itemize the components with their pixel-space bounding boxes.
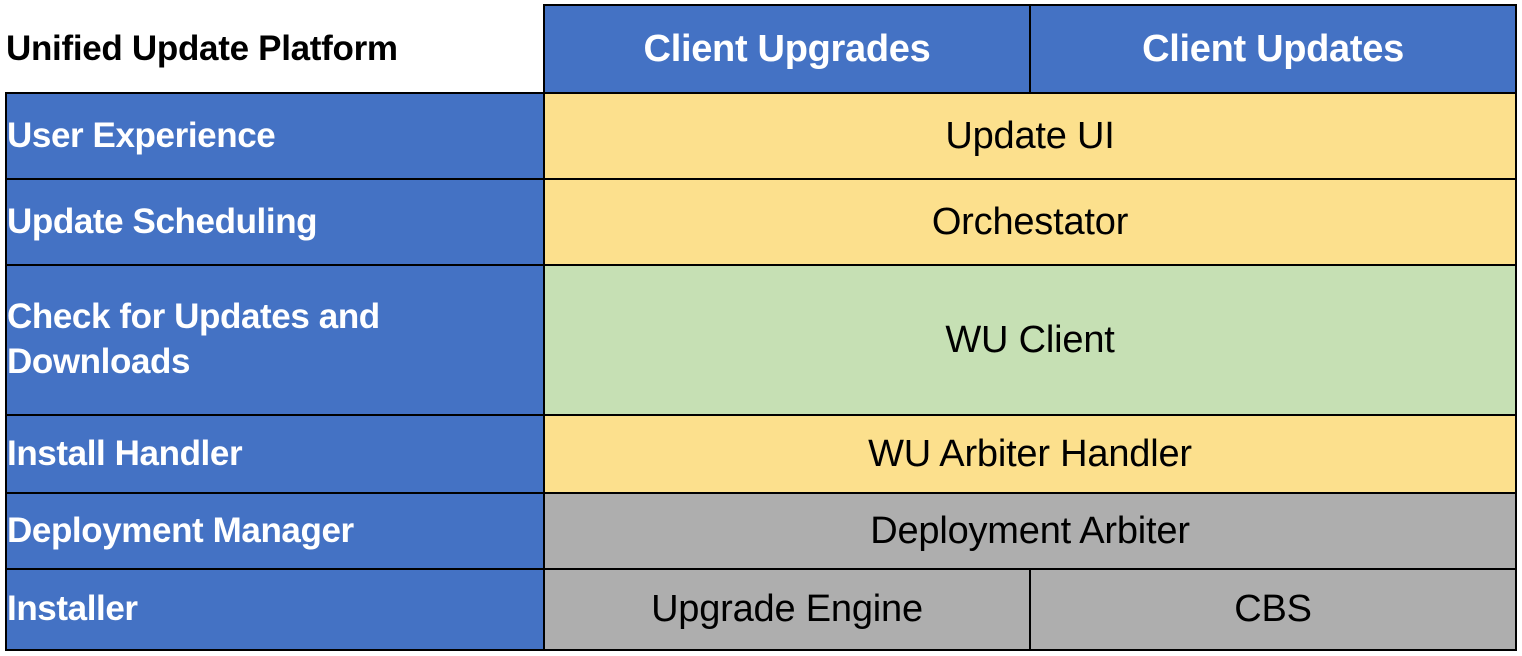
cell-wu-arbiter-handler: WU Arbiter Handler bbox=[544, 415, 1516, 493]
cell-orchestator: Orchestator bbox=[544, 179, 1516, 265]
table-row-installer: Installer Upgrade Engine CBS bbox=[6, 569, 1516, 650]
table-row-check-for-updates-and-downloads: Check for Updates and Downloads WU Clien… bbox=[6, 265, 1516, 415]
table-row-install-handler: Install Handler WU Arbiter Handler bbox=[6, 415, 1516, 493]
column-header-client-upgrades: Client Upgrades bbox=[544, 5, 1030, 93]
cell-upgrade-engine: Upgrade Engine bbox=[544, 569, 1030, 650]
platform-title-cell: Unified Update Platform bbox=[6, 5, 544, 93]
cell-cbs: CBS bbox=[1030, 569, 1516, 650]
row-label-line-2: Downloads bbox=[7, 342, 190, 381]
cell-wu-client: WU Client bbox=[544, 265, 1516, 415]
row-label-line-1: Check for Updates and bbox=[7, 297, 380, 336]
table-row-deployment-manager: Deployment Manager Deployment Arbiter bbox=[6, 493, 1516, 569]
row-label-deployment-manager: Deployment Manager bbox=[6, 493, 544, 569]
unified-update-platform-table: Unified Update Platform Client Upgrades … bbox=[5, 4, 1517, 651]
cell-update-ui: Update UI bbox=[544, 93, 1516, 179]
row-label-installer: Installer bbox=[6, 569, 544, 650]
row-label-check-for-updates-and-downloads: Check for Updates and Downloads bbox=[6, 265, 544, 415]
row-label-install-handler: Install Handler bbox=[6, 415, 544, 493]
row-label-update-scheduling: Update Scheduling bbox=[6, 179, 544, 265]
table-row-update-scheduling: Update Scheduling Orchestator bbox=[6, 179, 1516, 265]
diagram-canvas: Unified Update Platform Client Upgrades … bbox=[0, 0, 1522, 656]
table-row-user-experience: User Experience Update UI bbox=[6, 93, 1516, 179]
cell-deployment-arbiter: Deployment Arbiter bbox=[544, 493, 1516, 569]
row-label-user-experience: User Experience bbox=[6, 93, 544, 179]
column-header-client-updates: Client Updates bbox=[1030, 5, 1516, 93]
table-header-row: Unified Update Platform Client Upgrades … bbox=[6, 5, 1516, 93]
